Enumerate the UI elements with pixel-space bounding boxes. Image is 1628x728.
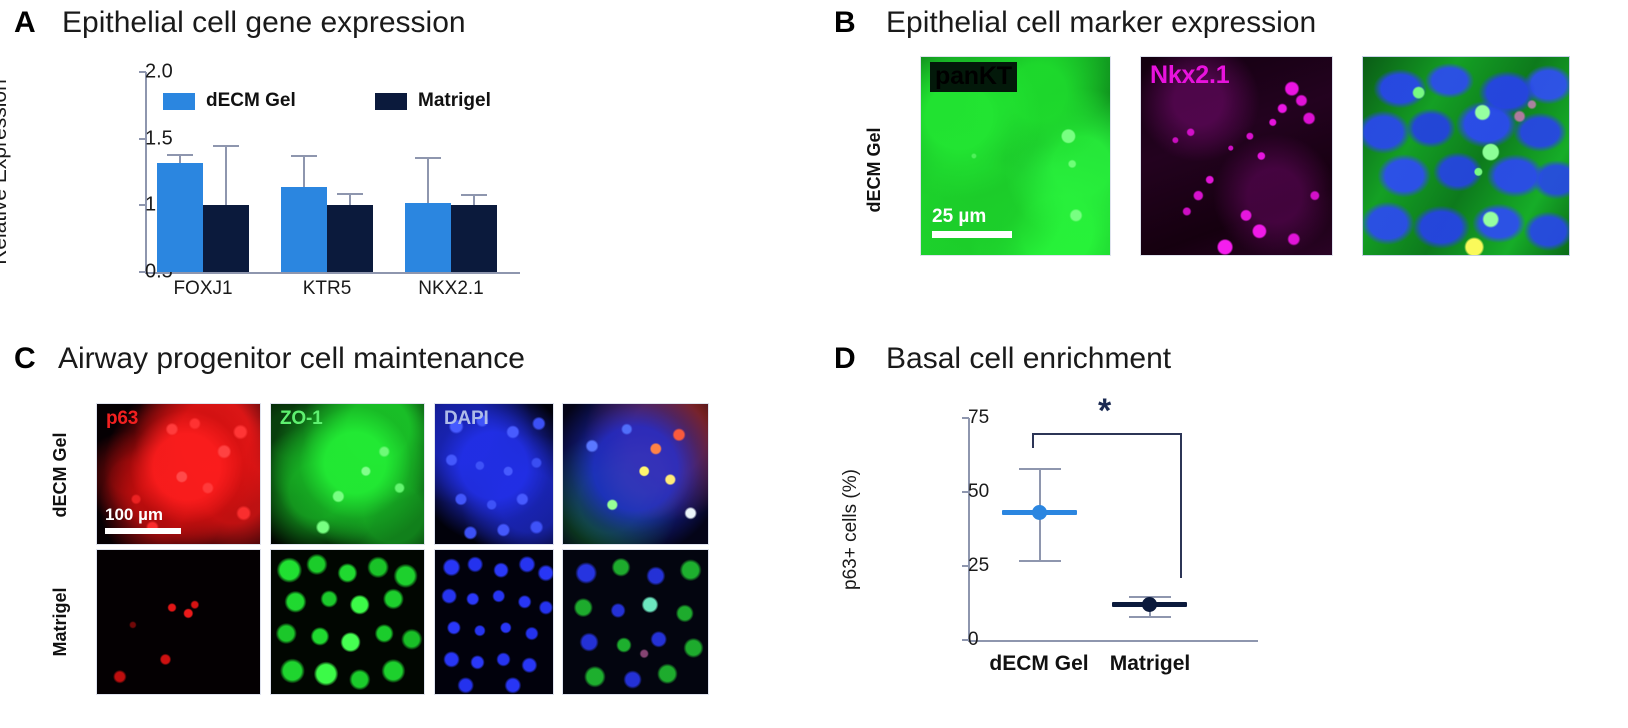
panel-b-row-label-decm-gel: dECM Gel: [864, 70, 886, 270]
bar-nkx21-matrigel[interactable]: [451, 205, 497, 272]
panel-b-image-tag-nkx21: Nkx2.1: [1150, 62, 1229, 90]
errorcap-lower-decm-gel: [1019, 560, 1061, 562]
x-tick-label-ktr5: KTR5: [267, 278, 387, 300]
panel-c-scalebar-label: 100 µm: [105, 506, 181, 525]
panel-a-letter: A: [14, 8, 36, 38]
panel-c: C Airway progenitor cell maintenance dEC…: [0, 330, 814, 728]
y-tick-mark-0: [139, 271, 146, 273]
panel-b-letter: B: [834, 8, 856, 38]
merge-highlights: [1363, 57, 1569, 255]
panel-b-title: Epithelial cell marker expression: [886, 8, 1316, 38]
panel-c-image-zo1-matrigel[interactable]: [270, 549, 425, 695]
panel-c-title: Airway progenitor cell maintenance: [58, 344, 525, 374]
y-tick-mark-2: [139, 138, 146, 140]
panel-c-image-tag-dapi: DAPI: [444, 409, 489, 430]
bar-foxj1-decm-gel[interactable]: [157, 163, 203, 272]
y-axis-line: [145, 72, 147, 272]
panel-b-image-pankt[interactable]: panKT 25 µm: [920, 56, 1111, 256]
panel-a-y-axis-label: Relative Expression: [0, 72, 16, 272]
panel-c-image-tag-p63: p63: [106, 409, 138, 430]
merge-signal-matrigel: [563, 550, 708, 694]
panel-a: A Epithelial cell gene expression Relati…: [0, 0, 814, 330]
errorcap-foxj1-decm-gel: [167, 154, 193, 156]
bracket-left-tick: [1032, 433, 1034, 448]
panel-b-scalebar-line: [932, 231, 1012, 238]
errorcap-nkx21-decm-gel: [415, 157, 441, 159]
panel-c-image-merge-matrigel[interactable]: [562, 549, 709, 695]
errorbar-ktr5-matrigel: [349, 195, 351, 206]
panel-d-plot-area: 0 25 50 75 *: [920, 418, 1270, 648]
significance-asterisk: *: [1098, 394, 1111, 428]
bar-ktr5-matrigel[interactable]: [327, 205, 373, 272]
bar-group-foxj1: FOXJ1: [157, 72, 249, 272]
panel-c-letter: C: [14, 344, 36, 374]
bar-group-nkx21: NKX2.1: [405, 72, 497, 272]
errorbar-foxj1-matrigel: [225, 147, 227, 206]
y-tick-mark-3: [139, 71, 146, 73]
bracket-right-tick: [1180, 433, 1182, 578]
panel-c-row-label-decm-gel: dECM Gel: [50, 405, 72, 545]
dapi-nuclei-matrigel: [435, 550, 553, 694]
panel-c-image-merge-decm[interactable]: [562, 403, 709, 545]
panel-b: B Epithelial cell marker expression dECM…: [820, 0, 1628, 330]
errorcap-foxj1-matrigel: [213, 145, 239, 147]
panel-c-scalebar-line: [105, 528, 181, 534]
panel-c-image-dapi-matrigel[interactable]: [434, 549, 554, 695]
panel-a-plot-area: 0.5 1.0 1.5 2.0 dECM Gel Matrigel: [105, 72, 520, 272]
bar-foxj1-matrigel[interactable]: [203, 205, 249, 272]
x-tick-label-foxj1: FOXJ1: [143, 278, 263, 300]
x-tick-label-matrigel: Matrigel: [1075, 652, 1225, 676]
errorbar-nkx21-matrigel: [473, 196, 475, 205]
legend-swatch-matrigel: [375, 93, 407, 110]
panel-c-scalebar: 100 µm: [105, 506, 181, 534]
panel-d-y-axis-label: p63+ cells (%): [840, 422, 866, 637]
panel-c-row-label-matrigel: Matrigel: [50, 552, 72, 692]
bar-group-ktr5: KTR5: [281, 72, 373, 272]
panel-c-image-dapi-decm[interactable]: DAPI: [434, 403, 554, 545]
errorcap-nkx21-matrigel: [461, 194, 487, 196]
y-tick-mark-1: [139, 204, 146, 206]
figure-root: A Epithelial cell gene expression Relati…: [0, 0, 1628, 728]
errorcap-upper-decm-gel: [1019, 468, 1061, 470]
panel-c-image-tag-zo1: ZO-1: [280, 409, 322, 430]
panel-b-image-tag-pankt: panKT: [930, 62, 1017, 92]
panel-c-image-p63-decm[interactable]: p63 100 µm: [96, 403, 261, 545]
errorcap-ktr5-matrigel: [337, 193, 363, 195]
errorbar-nkx21-decm-gel: [427, 159, 429, 203]
panel-d-letter: D: [834, 344, 856, 374]
y-tick-label-3: 2.0: [145, 61, 152, 84]
bar-nkx21-decm-gel[interactable]: [405, 203, 451, 272]
errorcap-ktr5-decm-gel: [291, 155, 317, 157]
merge-speckles-decm: [563, 404, 708, 544]
mean-dot-matrigel: [1142, 597, 1157, 612]
panel-b-scalebar-label: 25 µm: [932, 207, 1012, 228]
panel-b-image-merge[interactable]: [1362, 56, 1570, 256]
bar-ktr5-decm-gel[interactable]: [281, 187, 327, 272]
panel-b-scalebar: 25 µm: [932, 207, 1012, 238]
errorcap-lower-matrigel: [1129, 616, 1171, 618]
significance-bracket: [920, 418, 1270, 640]
errorbar-ktr5-decm-gel: [303, 157, 305, 186]
errorbar-foxj1-decm-gel: [179, 156, 181, 163]
panel-a-title: Epithelial cell gene expression: [62, 8, 466, 38]
y-tick-label-2: 1.5: [145, 127, 152, 150]
x-axis-line: [968, 640, 1258, 642]
panel-c-image-p63-matrigel[interactable]: [96, 549, 261, 695]
x-tick-label-nkx21: NKX2.1: [391, 278, 511, 300]
y-tick-label-1: 1.0: [145, 194, 152, 217]
panel-b-image-nkx21[interactable]: Nkx2.1: [1140, 56, 1333, 256]
panel-d: D Basal cell enrichment p63+ cells (%) 0…: [820, 330, 1628, 728]
zo1-signal-matrigel: [271, 550, 424, 694]
panel-d-title: Basal cell enrichment: [886, 344, 1171, 374]
p63-signal-matrigel: [97, 550, 260, 694]
panel-c-image-zo1-decm[interactable]: ZO-1: [270, 403, 425, 545]
bracket-horizontal: [1032, 433, 1182, 435]
x-axis-line: [145, 272, 520, 274]
